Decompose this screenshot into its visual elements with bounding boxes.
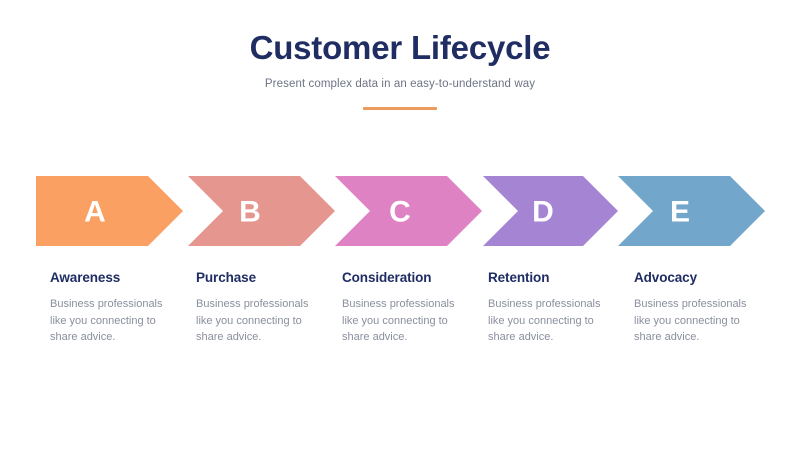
- chevron-letter-a: A: [84, 196, 106, 229]
- stage-body-retention: Business professionals like you connecti…: [488, 296, 604, 346]
- chevron-letter-e: E: [670, 196, 690, 229]
- stage-column-1: Awareness Business professionals like yo…: [50, 270, 196, 346]
- stage-column-5: Advocacy Business professionals like you…: [634, 270, 780, 346]
- stage-body-advocacy: Business professionals like you connecti…: [634, 296, 750, 346]
- stage-descriptions: Awareness Business professionals like yo…: [0, 270, 800, 346]
- chevron-shape-e[interactable]: [618, 176, 765, 246]
- chevron-letter-b: B: [239, 196, 261, 229]
- chevron-stage-5[interactable]: E: [618, 176, 765, 246]
- stage-body-consideration: Business professionals like you connecti…: [342, 296, 458, 346]
- stage-title-awareness: Awareness: [50, 270, 188, 285]
- page-subtitle: Present complex data in an easy-to-under…: [0, 78, 800, 90]
- stage-title-purchase: Purchase: [196, 270, 334, 285]
- chevron-letter-d: D: [532, 196, 554, 229]
- chevron-stage-4[interactable]: D: [483, 176, 618, 246]
- chevron-stage-1[interactable]: A: [36, 176, 183, 246]
- title-divider: [363, 107, 437, 110]
- stage-body-purchase: Business professionals like you connecti…: [196, 296, 312, 346]
- chevron-stage-3[interactable]: C: [335, 176, 482, 246]
- stage-body-awareness: Business professionals like you connecti…: [50, 296, 166, 346]
- chevron-stage-2[interactable]: B: [188, 176, 335, 246]
- stage-title-advocacy: Advocacy: [634, 270, 772, 285]
- stage-column-3: Consideration Business professionals lik…: [342, 270, 488, 346]
- page-title: Customer Lifecycle: [0, 30, 800, 66]
- chevron-shape-b[interactable]: [188, 176, 335, 246]
- stage-column-4: Retention Business professionals like yo…: [488, 270, 634, 346]
- stage-title-consideration: Consideration: [342, 270, 480, 285]
- chevron-shape-a[interactable]: [36, 176, 183, 246]
- stage-column-2: Purchase Business professionals like you…: [196, 270, 342, 346]
- slide-header: Customer Lifecycle Present complex data …: [0, 0, 800, 110]
- lifecycle-chevron-band: A B C D E: [0, 176, 800, 246]
- stage-title-retention: Retention: [488, 270, 626, 285]
- chevron-letter-c: C: [389, 196, 411, 229]
